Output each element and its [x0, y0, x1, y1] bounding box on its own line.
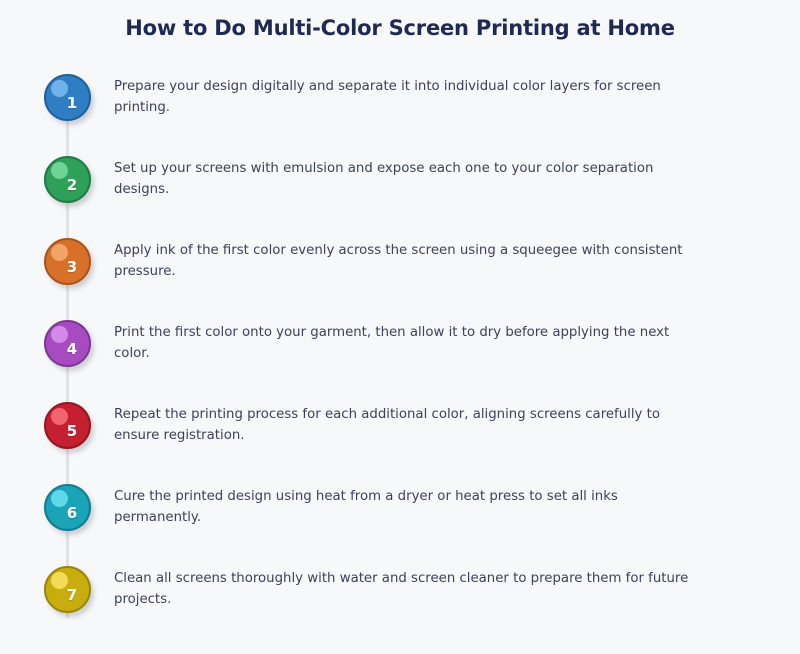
step-item[interactable]: 5Repeat the printing process for each ad… — [0, 402, 800, 458]
step-description: Prepare your design digitally and separa… — [114, 77, 704, 118]
step-number-label: 2 — [46, 158, 93, 205]
infographic-page: How to Do Multi-Color Screen Printing at… — [0, 0, 800, 654]
page-title: How to Do Multi-Color Screen Printing at… — [0, 13, 800, 43]
steps-timeline: 1Prepare your design digitally and separ… — [0, 60, 800, 654]
step-number-label: 5 — [46, 404, 93, 451]
step-description: Set up your screens with emulsion and ex… — [114, 159, 704, 200]
step-number-bubble[interactable]: 1 — [44, 74, 91, 121]
step-number-bubble[interactable]: 7 — [44, 566, 91, 613]
step-description: Clean all screens thoroughly with water … — [114, 569, 704, 610]
step-description: Apply ink of the first color evenly acro… — [114, 241, 704, 282]
step-number-label: 6 — [46, 486, 93, 533]
step-item[interactable]: 4Print the first color onto your garment… — [0, 320, 800, 376]
step-item[interactable]: 1Prepare your design digitally and separ… — [0, 74, 800, 130]
step-item[interactable]: 7Clean all screens thoroughly with water… — [0, 566, 800, 622]
step-number-label: 3 — [46, 240, 93, 287]
step-description: Print the first color onto your garment,… — [114, 323, 704, 364]
step-description: Cure the printed design using heat from … — [114, 487, 704, 528]
step-description: Repeat the printing process for each add… — [114, 405, 704, 446]
step-number-label: 4 — [46, 322, 93, 369]
step-item[interactable]: 3Apply ink of the first color evenly acr… — [0, 238, 800, 294]
step-number-bubble[interactable]: 3 — [44, 238, 91, 285]
step-item[interactable]: 2Set up your screens with emulsion and e… — [0, 156, 800, 212]
step-number-bubble[interactable]: 6 — [44, 484, 91, 531]
step-number-label: 1 — [46, 76, 93, 123]
step-number-label: 7 — [46, 568, 93, 615]
step-number-bubble[interactable]: 2 — [44, 156, 91, 203]
step-item[interactable]: 6Cure the printed design using heat from… — [0, 484, 800, 540]
step-number-bubble[interactable]: 4 — [44, 320, 91, 367]
step-number-bubble[interactable]: 5 — [44, 402, 91, 449]
